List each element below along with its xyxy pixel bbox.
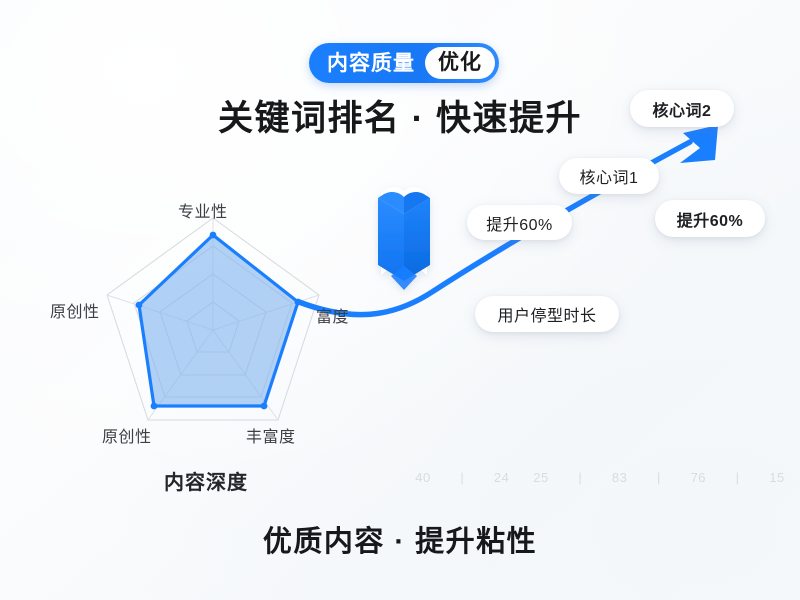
radar-axis-label-originality-left: 原创性 bbox=[50, 298, 100, 322]
annotation-pill-core-keyword-1[interactable]: 核心词1 bbox=[559, 158, 659, 194]
ruler-tick: 15 bbox=[764, 470, 790, 485]
chart-caption-content-depth: 内容深度 bbox=[164, 466, 248, 495]
faint-axis-ruler: 40 | 24 25 | 83 | 76 | 15 bbox=[410, 465, 790, 489]
poster-canvas: 内容质量 优化 关键词排名 · 快速提升 优质内容 · 提升粘性 bbox=[0, 0, 800, 600]
open-book-icon bbox=[378, 187, 430, 290]
annotation-pill-core-keyword-2[interactable]: 核心词2 bbox=[630, 90, 734, 127]
ruler-tick: 25 bbox=[528, 470, 554, 485]
annotation-pill-boost-right[interactable]: 提升60% bbox=[655, 200, 765, 237]
ruler-tick: 40 bbox=[410, 470, 436, 485]
annotation-pill-dwell-time[interactable]: 用户停型时长 bbox=[475, 296, 619, 332]
ruler-tick: | bbox=[449, 470, 475, 485]
radar-axis-label-professionalism: 专业性 bbox=[178, 198, 228, 222]
radar-axis-label-richness: 丰富度 bbox=[246, 423, 296, 447]
radar-axis-label-originality-bottom: 原创性 bbox=[102, 423, 152, 447]
ruler-tick: | bbox=[567, 470, 593, 485]
ruler-tick: | bbox=[725, 470, 751, 485]
ruler-tick: 76 bbox=[685, 470, 711, 485]
ruler-tick: 83 bbox=[607, 470, 633, 485]
ruler-tick: 24 bbox=[489, 470, 515, 485]
radar-series-polygon bbox=[139, 235, 298, 406]
annotation-pill-boost-left[interactable]: 提升60% bbox=[467, 205, 572, 240]
radar-axis-label-richness-short: 富度 bbox=[316, 303, 349, 327]
ruler-tick: | bbox=[646, 470, 672, 485]
